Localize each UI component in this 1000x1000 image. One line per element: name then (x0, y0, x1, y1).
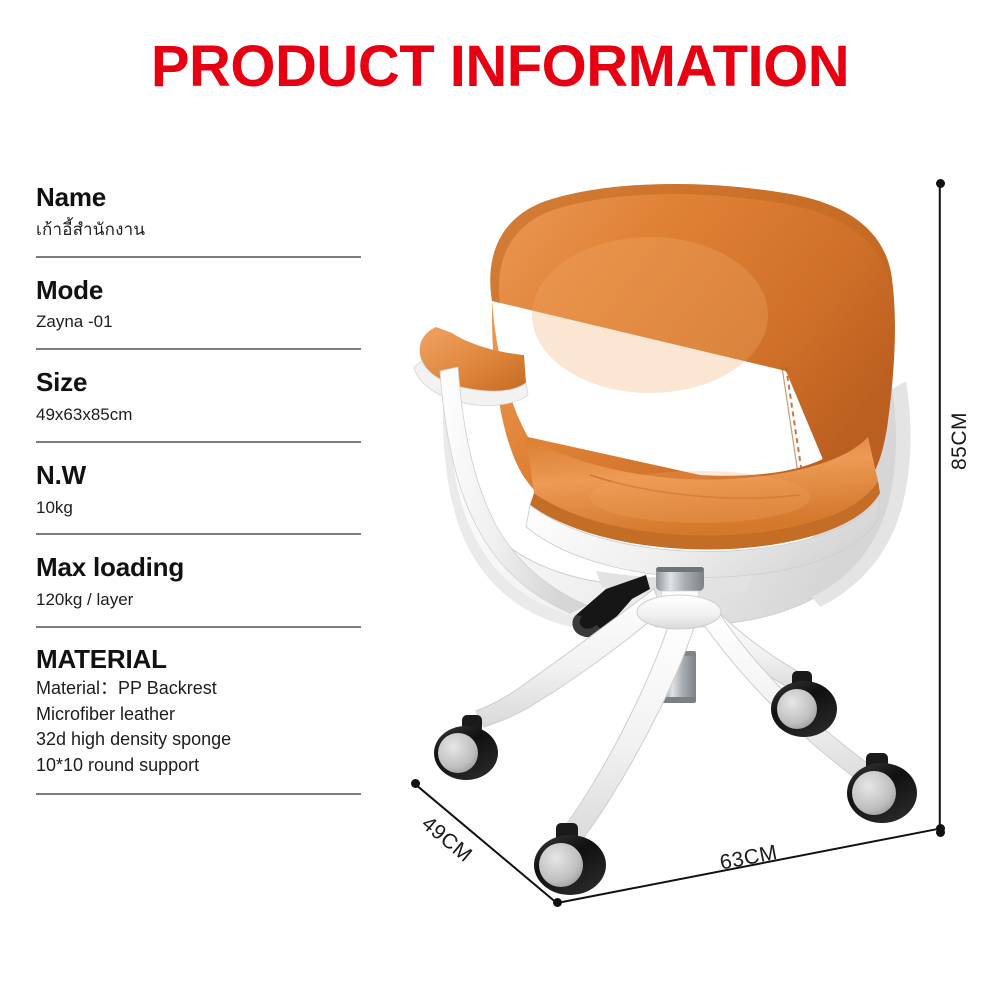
spec-separator (36, 256, 361, 258)
spec-row-name: Name เก้าอี้สำนักงาน (36, 182, 361, 242)
spec-row-size: Size 49x63x85cm (36, 367, 361, 427)
spec-label-name: Name (36, 182, 361, 213)
caster (534, 823, 606, 895)
spec-value-nw: 10kg (36, 497, 361, 520)
spec-row-nw: N.W 10kg (36, 460, 361, 520)
dim-dot-width-end (936, 824, 945, 833)
material-heading: MATERIAL (36, 645, 361, 674)
spec-label-nw: N.W (36, 460, 361, 491)
spec-row-material: MATERIAL Material：PP Backrest Microfiber… (36, 645, 361, 779)
spec-row-max-loading: Max loading 120kg / layer (36, 552, 361, 612)
spec-separator (36, 441, 361, 443)
spec-value-size: 49x63x85cm (36, 404, 361, 427)
material-line: 10*10 round support (36, 753, 361, 779)
spec-label-max-loading: Max loading (36, 552, 361, 583)
dim-label-height: 85CM (948, 412, 972, 470)
dim-line-height (939, 184, 941, 834)
page-title: PRODUCT INFORMATION (0, 38, 1000, 96)
spec-separator (36, 626, 361, 628)
spec-separator (36, 348, 361, 350)
material-line: 32d high density sponge (36, 727, 361, 753)
material-line: Material：PP Backrest (36, 676, 361, 702)
spec-value-max-loading: 120kg / layer (36, 589, 361, 612)
material-line: Microfiber leather (36, 702, 361, 728)
spec-label-size: Size (36, 367, 361, 398)
spec-separator (36, 793, 361, 795)
spec-value-mode: Zayna -01 (36, 311, 361, 334)
product-information-page: PRODUCT INFORMATION Name เก้าอี้สำนักงาน… (0, 0, 1000, 1000)
spec-row-mode: Mode Zayna -01 (36, 275, 361, 335)
spec-separator (36, 533, 361, 535)
spec-list: Name เก้าอี้สำนักงาน Mode Zayna -01 Size… (36, 182, 361, 812)
spec-label-mode: Mode (36, 275, 361, 306)
spec-value-name: เก้าอี้สำนักงาน (36, 219, 361, 242)
material-lines: Material：PP Backrest Microfiber leather … (36, 676, 361, 780)
product-image-office-chair (400, 175, 945, 915)
